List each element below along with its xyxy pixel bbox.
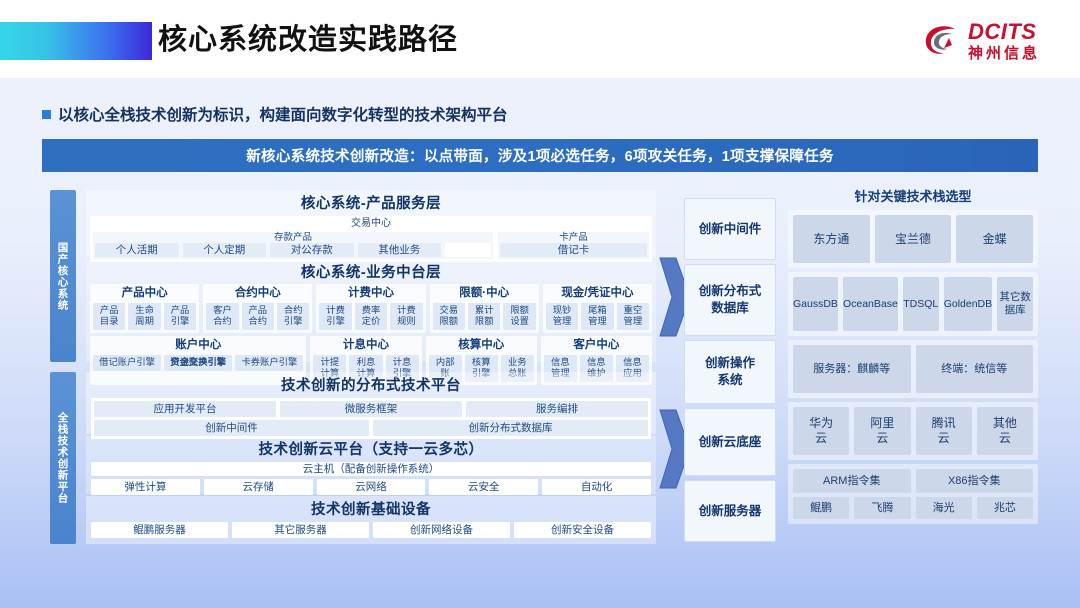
infra-item[interactable]: 创新网络设备 <box>373 522 510 538</box>
vendor-box[interactable]: GoldenDB <box>944 277 992 331</box>
hub-title: 现金/凭证中心 <box>546 286 649 301</box>
chip-vendor-box[interactable]: 海光 <box>916 497 972 519</box>
chip-vendor-box[interactable]: 飞腾 <box>854 497 910 519</box>
instruction-set-box[interactable]: ARM指令集 <box>793 469 911 493</box>
cloud-items: 弹性计算 云存储 云网络 云安全 自动化 <box>91 479 651 495</box>
cloud-host[interactable]: 云主机（配备创新操作系统） <box>91 462 651 476</box>
cloud-item[interactable]: 弹性计算 <box>91 479 200 495</box>
product-item-empty <box>445 243 491 257</box>
side-label-fullstack-platform: 全栈技术创新平台 <box>50 372 76 544</box>
hub-title: 限额·中心 <box>433 286 536 301</box>
vendor-box[interactable]: 宝兰德 <box>875 215 952 263</box>
hub-cell[interactable]: 现钞 管理 <box>546 303 578 330</box>
product-item[interactable]: 借记卡 <box>500 243 647 257</box>
product-item[interactable]: 其他业务 <box>358 243 442 257</box>
stack-group-database: GaussDB OceanBase TDSQL GoldenDB 其它数据库 <box>788 272 1038 336</box>
product-layer-title: 核心系统-产品服务层 <box>86 192 656 213</box>
hub-contract-center[interactable]: 合约中心 客户 合约 产品 合约 合约 引擎 <box>203 284 312 333</box>
vendor-box[interactable]: TDSQL <box>903 277 939 331</box>
hub-limit-center[interactable]: 限额·中心 交易 限额 累计 限额 限额 设置 <box>430 284 539 333</box>
product-item[interactable]: 对公存款 <box>270 243 354 257</box>
tech-platform-row-1: 应用开发平台 微服务框架 服务编排 <box>94 401 648 417</box>
hub-title: 计息中心 <box>313 338 418 353</box>
hub-billing-center[interactable]: 计费中心 计费 引擎 费率 定价 计费 规则 <box>316 284 425 333</box>
page-header: 核心系统改造实践路径 DCITS 神州信息 <box>0 0 1080 78</box>
instruction-set-box[interactable]: X86指令集 <box>916 469 1034 493</box>
hub-title: 核算中心 <box>429 338 534 353</box>
hub-cell[interactable]: 合约 引擎 <box>277 303 309 330</box>
vendor-box[interactable]: OceanBase <box>843 277 898 331</box>
vendor-box[interactable]: 其它数据库 <box>997 277 1033 331</box>
hub-title: 账户中心 <box>93 338 303 353</box>
bullet-square-icon <box>42 110 51 119</box>
hub-title: 产品中心 <box>93 286 196 301</box>
logo-text-en: DCITS <box>968 21 1037 43</box>
task-innovative-server[interactable]: 创新服务器 <box>684 480 776 542</box>
hub-cell[interactable]: 限额 设置 <box>503 303 535 330</box>
hub-cell[interactable]: 尾箱 管理 <box>581 303 613 330</box>
product-item[interactable]: 个人定期 <box>183 243 267 257</box>
stack-selection-title: 针对关键技术栈选型 <box>788 186 1038 205</box>
infra-item[interactable]: 创新安全设备 <box>514 522 651 538</box>
hub-title: 计费中心 <box>319 286 422 301</box>
architecture-panel: 国产核心系统 全栈技术创新平台 核心系统-产品服务层 交易中心 存款产品 个人活… <box>42 186 656 548</box>
tech-item[interactable]: 创新分布式数据库 <box>373 420 648 436</box>
stack-group-middleware: 东方通 宝兰德 金蝶 <box>788 210 1038 268</box>
tech-item[interactable]: 微服务框架 <box>280 401 462 417</box>
business-middle-layer: 核心系统-业务中台层 产品中心 产品 目录 生命 周期 产品 引擎 合约中心 客… <box>86 260 656 362</box>
cloud-item[interactable]: 云安全 <box>429 479 538 495</box>
product-item[interactable]: 个人活期 <box>95 243 179 257</box>
tech-platform-title: 技术创新的分布式技术平台 <box>86 374 656 395</box>
section-subtitle: 以核心全栈技术创新为标识，构建面向数字化转型的技术架构平台 <box>42 103 508 125</box>
vendor-box[interactable]: 金蝶 <box>956 215 1033 263</box>
cloud-platform: 技术创新云平台（支持一云多芯） 云主机（配备创新操作系统） 弹性计算 云存储 云… <box>86 436 656 494</box>
innovation-task-column: 创新中间件 创新分布式 数据库 创新操作 系统 创新云底座 创新服务器 <box>684 198 776 546</box>
task-innovative-cloud-base[interactable]: 创新云底座 <box>684 408 776 476</box>
vendor-box[interactable]: 服务器：麒麟等 <box>793 345 911 393</box>
product-group-card: 卡产品 借记卡 <box>498 232 649 259</box>
vendor-box[interactable]: 终端：统信等 <box>916 345 1034 393</box>
vendor-box[interactable]: GaussDB <box>793 277 838 331</box>
product-service-layer: 核心系统-产品服务层 交易中心 存款产品 个人活期 个人定期 对公存款 其他业务… <box>86 190 656 258</box>
vendor-box[interactable]: 其他 云 <box>977 407 1033 455</box>
infrastructure-layer: 技术创新基础设备 鲲鹏服务器 其它服务器 创新网络设备 创新安全设备 <box>86 496 656 544</box>
side-label-domestic-core: 国产核心系统 <box>50 190 76 362</box>
vendor-box[interactable]: 华为 云 <box>793 407 849 455</box>
stack-group-cloud: 华为 云 阿里 云 腾讯 云 其他 云 <box>788 402 1038 460</box>
hub-cell[interactable]: 计费 引擎 <box>319 303 351 330</box>
product-group-deposit-name: 存款产品 <box>95 232 491 243</box>
stack-group-os: 服务器：麒麟等 终端：统信等 <box>788 340 1038 398</box>
hub-cell[interactable]: 计费 规则 <box>390 303 422 330</box>
hub-cell[interactable]: 生命 周期 <box>128 303 160 330</box>
hub-cell[interactable]: 客户 合约 <box>206 303 238 330</box>
header-accent-bar <box>0 22 152 60</box>
vendor-box[interactable]: 腾讯 云 <box>916 407 972 455</box>
dcits-swirl-icon <box>922 22 962 60</box>
tech-item[interactable]: 应用开发平台 <box>94 401 276 417</box>
highlight-banner: 新核心系统技术创新改造：以点带面，涉及1项必选任务，6项攻关任务，1项支撑保障任… <box>42 139 1038 172</box>
hub-cell[interactable]: 产品 引擎 <box>164 303 196 330</box>
hub-cell[interactable]: 累计 限额 <box>468 303 500 330</box>
hub-product-center[interactable]: 产品中心 产品 目录 生命 周期 产品 引擎 <box>90 284 199 333</box>
tech-item[interactable]: 创新中间件 <box>94 420 369 436</box>
distributed-tech-platform: 技术创新的分布式技术平台 应用开发平台 微服务框架 服务编排 创新中间件 创新分… <box>86 372 656 434</box>
cloud-item[interactable]: 云存储 <box>204 479 313 495</box>
hub-cell-overlay: 资金交换引擎 <box>90 354 306 368</box>
vendor-box[interactable]: 东方通 <box>793 215 870 263</box>
transaction-center-label: 交易中心 <box>93 218 649 230</box>
business-layer-title: 核心系统-业务中台层 <box>86 261 656 282</box>
business-row-1: 产品中心 产品 目录 生命 周期 产品 引擎 合约中心 客户 合约 产品 合约 … <box>90 284 652 333</box>
tech-item[interactable]: 服务编排 <box>466 401 648 417</box>
infra-items: 鲲鹏服务器 其它服务器 创新网络设备 创新安全设备 <box>91 522 651 538</box>
tech-platform-row-2: 创新中间件 创新分布式数据库 <box>94 420 648 436</box>
task-innovative-middleware[interactable]: 创新中间件 <box>684 198 776 260</box>
hub-cell[interactable]: 重空 管理 <box>617 303 649 330</box>
infra-title: 技术创新基础设备 <box>86 498 656 519</box>
task-innovative-distributed-db[interactable]: 创新分布式 数据库 <box>684 264 776 336</box>
product-groups: 存款产品 个人活期 个人定期 对公存款 其他业务 卡产品 借记卡 <box>93 232 649 259</box>
chip-vendor-box[interactable]: 兆芯 <box>977 497 1033 519</box>
stack-group-chip: ARM指令集 X86指令集 鲲鹏 飞腾 海光 兆芯 <box>788 464 1038 524</box>
product-group-deposit: 存款产品 个人活期 个人定期 对公存款 其他业务 <box>93 232 493 259</box>
hub-cell[interactable]: 费率 定价 <box>355 303 387 330</box>
chip-vendor-box[interactable]: 鲲鹏 <box>793 497 849 519</box>
dcits-logo: DCITS 神州信息 <box>922 20 1040 62</box>
hub-cell[interactable]: 产品 合约 <box>242 303 274 330</box>
cloud-item[interactable]: 自动化 <box>542 479 651 495</box>
stack-selection-column: 针对关键技术栈选型 东方通 宝兰德 金蝶 GaussDB OceanBase T… <box>788 186 1038 528</box>
logo-text-cn: 神州信息 <box>968 46 1040 61</box>
hub-cash-voucher-center[interactable]: 现金/凭证中心 现钞 管理 尾箱 管理 重空 管理 <box>543 284 652 333</box>
cloud-platform-title: 技术创新云平台（支持一云多芯） <box>86 438 656 459</box>
hub-cell[interactable]: 交易 限额 <box>433 303 465 330</box>
task-innovative-os[interactable]: 创新操作 系统 <box>684 340 776 404</box>
subtitle-text: 以核心全栈技术创新为标识，构建面向数字化转型的技术架构平台 <box>58 103 508 125</box>
infra-item[interactable]: 其它服务器 <box>232 522 369 538</box>
vendor-box[interactable]: 阿里 云 <box>854 407 910 455</box>
hub-title: 合约中心 <box>206 286 309 301</box>
hub-cell[interactable]: 产品 目录 <box>93 303 125 330</box>
product-group-card-name: 卡产品 <box>500 232 647 243</box>
page-title: 核心系统改造实践路径 <box>158 19 458 61</box>
hub-title: 客户中心 <box>544 338 649 353</box>
cloud-item[interactable]: 云网络 <box>317 479 426 495</box>
infra-item[interactable]: 鲲鹏服务器 <box>91 522 228 538</box>
